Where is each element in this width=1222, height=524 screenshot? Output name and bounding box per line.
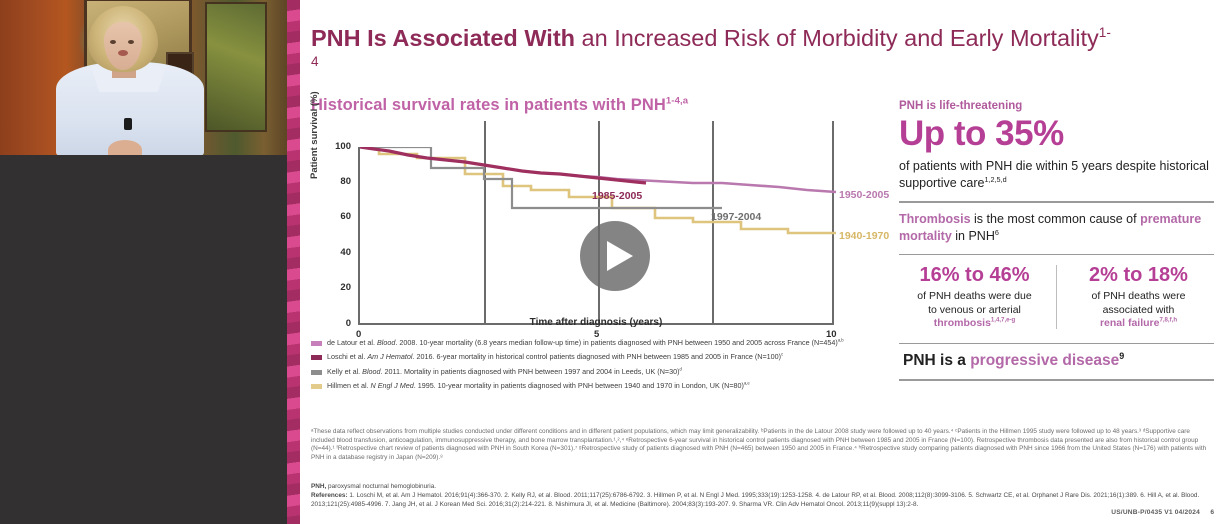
stat-thrombosis-superscript: 1,4,7,e-g bbox=[991, 317, 1015, 324]
footnotes-block: ᵃThese data reflect observations from mu… bbox=[311, 428, 1211, 462]
speaker-mouth bbox=[118, 50, 128, 56]
lapel-microphone bbox=[124, 118, 132, 130]
headline-statistic: Up to 35% bbox=[899, 113, 1214, 155]
curve-label-1997-2004: 1997-2004 bbox=[711, 211, 761, 223]
curve-label-1940-1970: 1940-1970 bbox=[839, 230, 889, 242]
divider-1 bbox=[899, 201, 1214, 203]
headline-statistic-caption: of patients with PNH die within 5 years … bbox=[899, 158, 1214, 192]
headline-caption-superscript: 1,2,5,d bbox=[984, 175, 1006, 184]
curve-label-1950-2005: 1950-2005 bbox=[839, 189, 889, 201]
speaker-eye-right bbox=[128, 40, 134, 44]
abbrev-term: PNH, bbox=[311, 483, 326, 490]
x-axis-label: Time after diagnosis (years) bbox=[358, 317, 834, 328]
chart-heading-superscript: 1-4,a bbox=[666, 96, 688, 107]
progressive-superscript: 9 bbox=[1119, 351, 1124, 361]
play-button[interactable] bbox=[580, 221, 650, 291]
stat-thrombosis-line2: to venous or arterial bbox=[928, 304, 1021, 316]
page-title: PNH Is Associated With an Increased Risk… bbox=[311, 24, 1111, 82]
y-tick-60: 60 bbox=[325, 211, 351, 222]
key-facts-panel: PNH is life-threatening Up to 35% of pat… bbox=[899, 100, 1214, 389]
video-letterbox bbox=[0, 155, 287, 524]
title-bold-segment: PNH Is Associated With bbox=[311, 25, 575, 51]
thrombosis-tail-text: in PNH bbox=[952, 229, 995, 243]
chart-heading-text: Historical survival rates in patients wi… bbox=[311, 96, 666, 114]
decorative-stripe-bar bbox=[287, 0, 300, 524]
progressive-keyword: progressive disease bbox=[970, 352, 1119, 369]
video-player-pane[interactable] bbox=[0, 0, 287, 524]
video-frame[interactable] bbox=[0, 0, 287, 155]
legend-text-1: de Latour et al. Blood. 2008. 10-year mo… bbox=[327, 338, 844, 347]
survival-chart: Patient survival (%) 100 80 60 40 20 0 bbox=[311, 121, 891, 336]
chart-heading: Historical survival rates in patients wi… bbox=[311, 96, 891, 115]
chart-column: Historical survival rates in patients wi… bbox=[311, 96, 891, 336]
divider-2 bbox=[899, 254, 1214, 256]
stat-renal: 2% to 18% of PNH deaths were associated … bbox=[1063, 263, 1214, 331]
title-rest-segment: an Increased Risk of Morbidity and Early… bbox=[575, 25, 1099, 51]
stat-pair: 16% to 46% of PNH deaths were due to ven… bbox=[899, 263, 1214, 331]
legend-text-2: Loschi et al. Am J Hematol. 2016. 6-year… bbox=[327, 352, 783, 361]
stat-renal-caption: of PNH deaths were associated with renal… bbox=[1067, 290, 1210, 331]
thrombosis-superscript: 6 bbox=[995, 227, 999, 236]
stat-thrombosis-number: 16% to 46% bbox=[903, 263, 1046, 288]
headline-caption-text: of patients with PNH die within 5 years … bbox=[899, 159, 1209, 190]
references-label: References: bbox=[311, 492, 348, 499]
y-axis-label: Patient survival (%) bbox=[309, 91, 320, 179]
y-axis-ticks: 100 80 60 40 20 0 bbox=[321, 121, 351, 301]
progressive-disease-statement: PNH is a progressive disease9 bbox=[903, 352, 1214, 370]
stat-renal-superscript: 7,8,f,h bbox=[1159, 317, 1177, 324]
speaker-eye-left bbox=[110, 40, 116, 44]
abbrev-definition: paroxysmal nocturnal hemoglobinuria. bbox=[326, 483, 436, 490]
play-triangle-icon bbox=[607, 241, 633, 271]
legend-item: de Latour et al. Blood. 2008. 10-year mo… bbox=[311, 338, 891, 347]
y-tick-0: 0 bbox=[325, 318, 351, 329]
stat-renal-line1: of PNH deaths were bbox=[1092, 290, 1186, 302]
abbreviations-line: PNH, paroxysmal nocturnal hemoglobinuria… bbox=[311, 483, 1211, 492]
y-tick-20: 20 bbox=[325, 282, 351, 293]
legend-item: Hillmen et al. N Engl J Med. 1995. 10-ye… bbox=[311, 381, 891, 390]
material-code: US/UNB-P/0435 V1 04/2024 bbox=[1111, 509, 1200, 516]
stat-divider bbox=[1056, 265, 1057, 329]
references-text: 1. Loschi M, et al. Am J Hematol. 2016;9… bbox=[311, 492, 1199, 508]
legend-swatch-1950-2005 bbox=[311, 341, 322, 346]
legend-swatch-1940-1970 bbox=[311, 384, 322, 389]
stat-thrombosis: 16% to 46% of PNH deaths were due to ven… bbox=[899, 263, 1050, 331]
stat-renal-keyword: renal failure bbox=[1100, 317, 1160, 329]
chart-source-legend: de Latour et al. Blood. 2008. 10-year mo… bbox=[311, 338, 891, 396]
legend-item: Kelly et al. Blood. 2011. Mortality in p… bbox=[311, 367, 891, 376]
legend-item: Loschi et al. Am J Hematol. 2016. 6-year… bbox=[311, 352, 891, 361]
stat-renal-number: 2% to 18% bbox=[1067, 263, 1210, 288]
stat-thrombosis-caption: of PNH deaths were due to venous or arte… bbox=[903, 290, 1046, 331]
page-number: 6 bbox=[1210, 509, 1214, 516]
thrombosis-keyword: Thrombosis bbox=[899, 212, 971, 226]
thrombosis-mid-text: is the most common cause of bbox=[971, 212, 1141, 226]
y-tick-100: 100 bbox=[325, 141, 351, 152]
references-block: References: 1. Loschi M, et al. Am J Hem… bbox=[311, 492, 1211, 510]
stat-thrombosis-keyword: thrombosis bbox=[934, 317, 991, 329]
y-tick-40: 40 bbox=[325, 247, 351, 258]
curve-label-1985-2005: 1985-2005 bbox=[592, 190, 642, 202]
background-plant-art bbox=[205, 2, 267, 132]
stat-thrombosis-line1: of PNH deaths were due bbox=[917, 290, 1031, 302]
legend-text-4: Hillmen et al. N Engl J Med. 1995. 10-ye… bbox=[327, 381, 750, 390]
slide-viewer: PNH Is Associated With an Increased Risk… bbox=[0, 0, 1222, 524]
divider-4 bbox=[899, 379, 1214, 381]
progressive-prefix: PNH is a bbox=[903, 352, 970, 369]
legend-swatch-1985-2005 bbox=[311, 355, 322, 360]
legend-swatch-1997-2004 bbox=[311, 370, 322, 375]
divider-3 bbox=[899, 343, 1214, 345]
stat-renal-line2: associated with bbox=[1103, 304, 1175, 316]
y-tick-80: 80 bbox=[325, 176, 351, 187]
slide-content: PNH Is Associated With an Increased Risk… bbox=[303, 0, 1222, 524]
panel-eyebrow: PNH is life-threatening bbox=[899, 100, 1214, 112]
legend-text-3: Kelly et al. Blood. 2011. Mortality in p… bbox=[327, 367, 682, 376]
thrombosis-statement: Thrombosis is the most common cause of p… bbox=[899, 211, 1214, 245]
